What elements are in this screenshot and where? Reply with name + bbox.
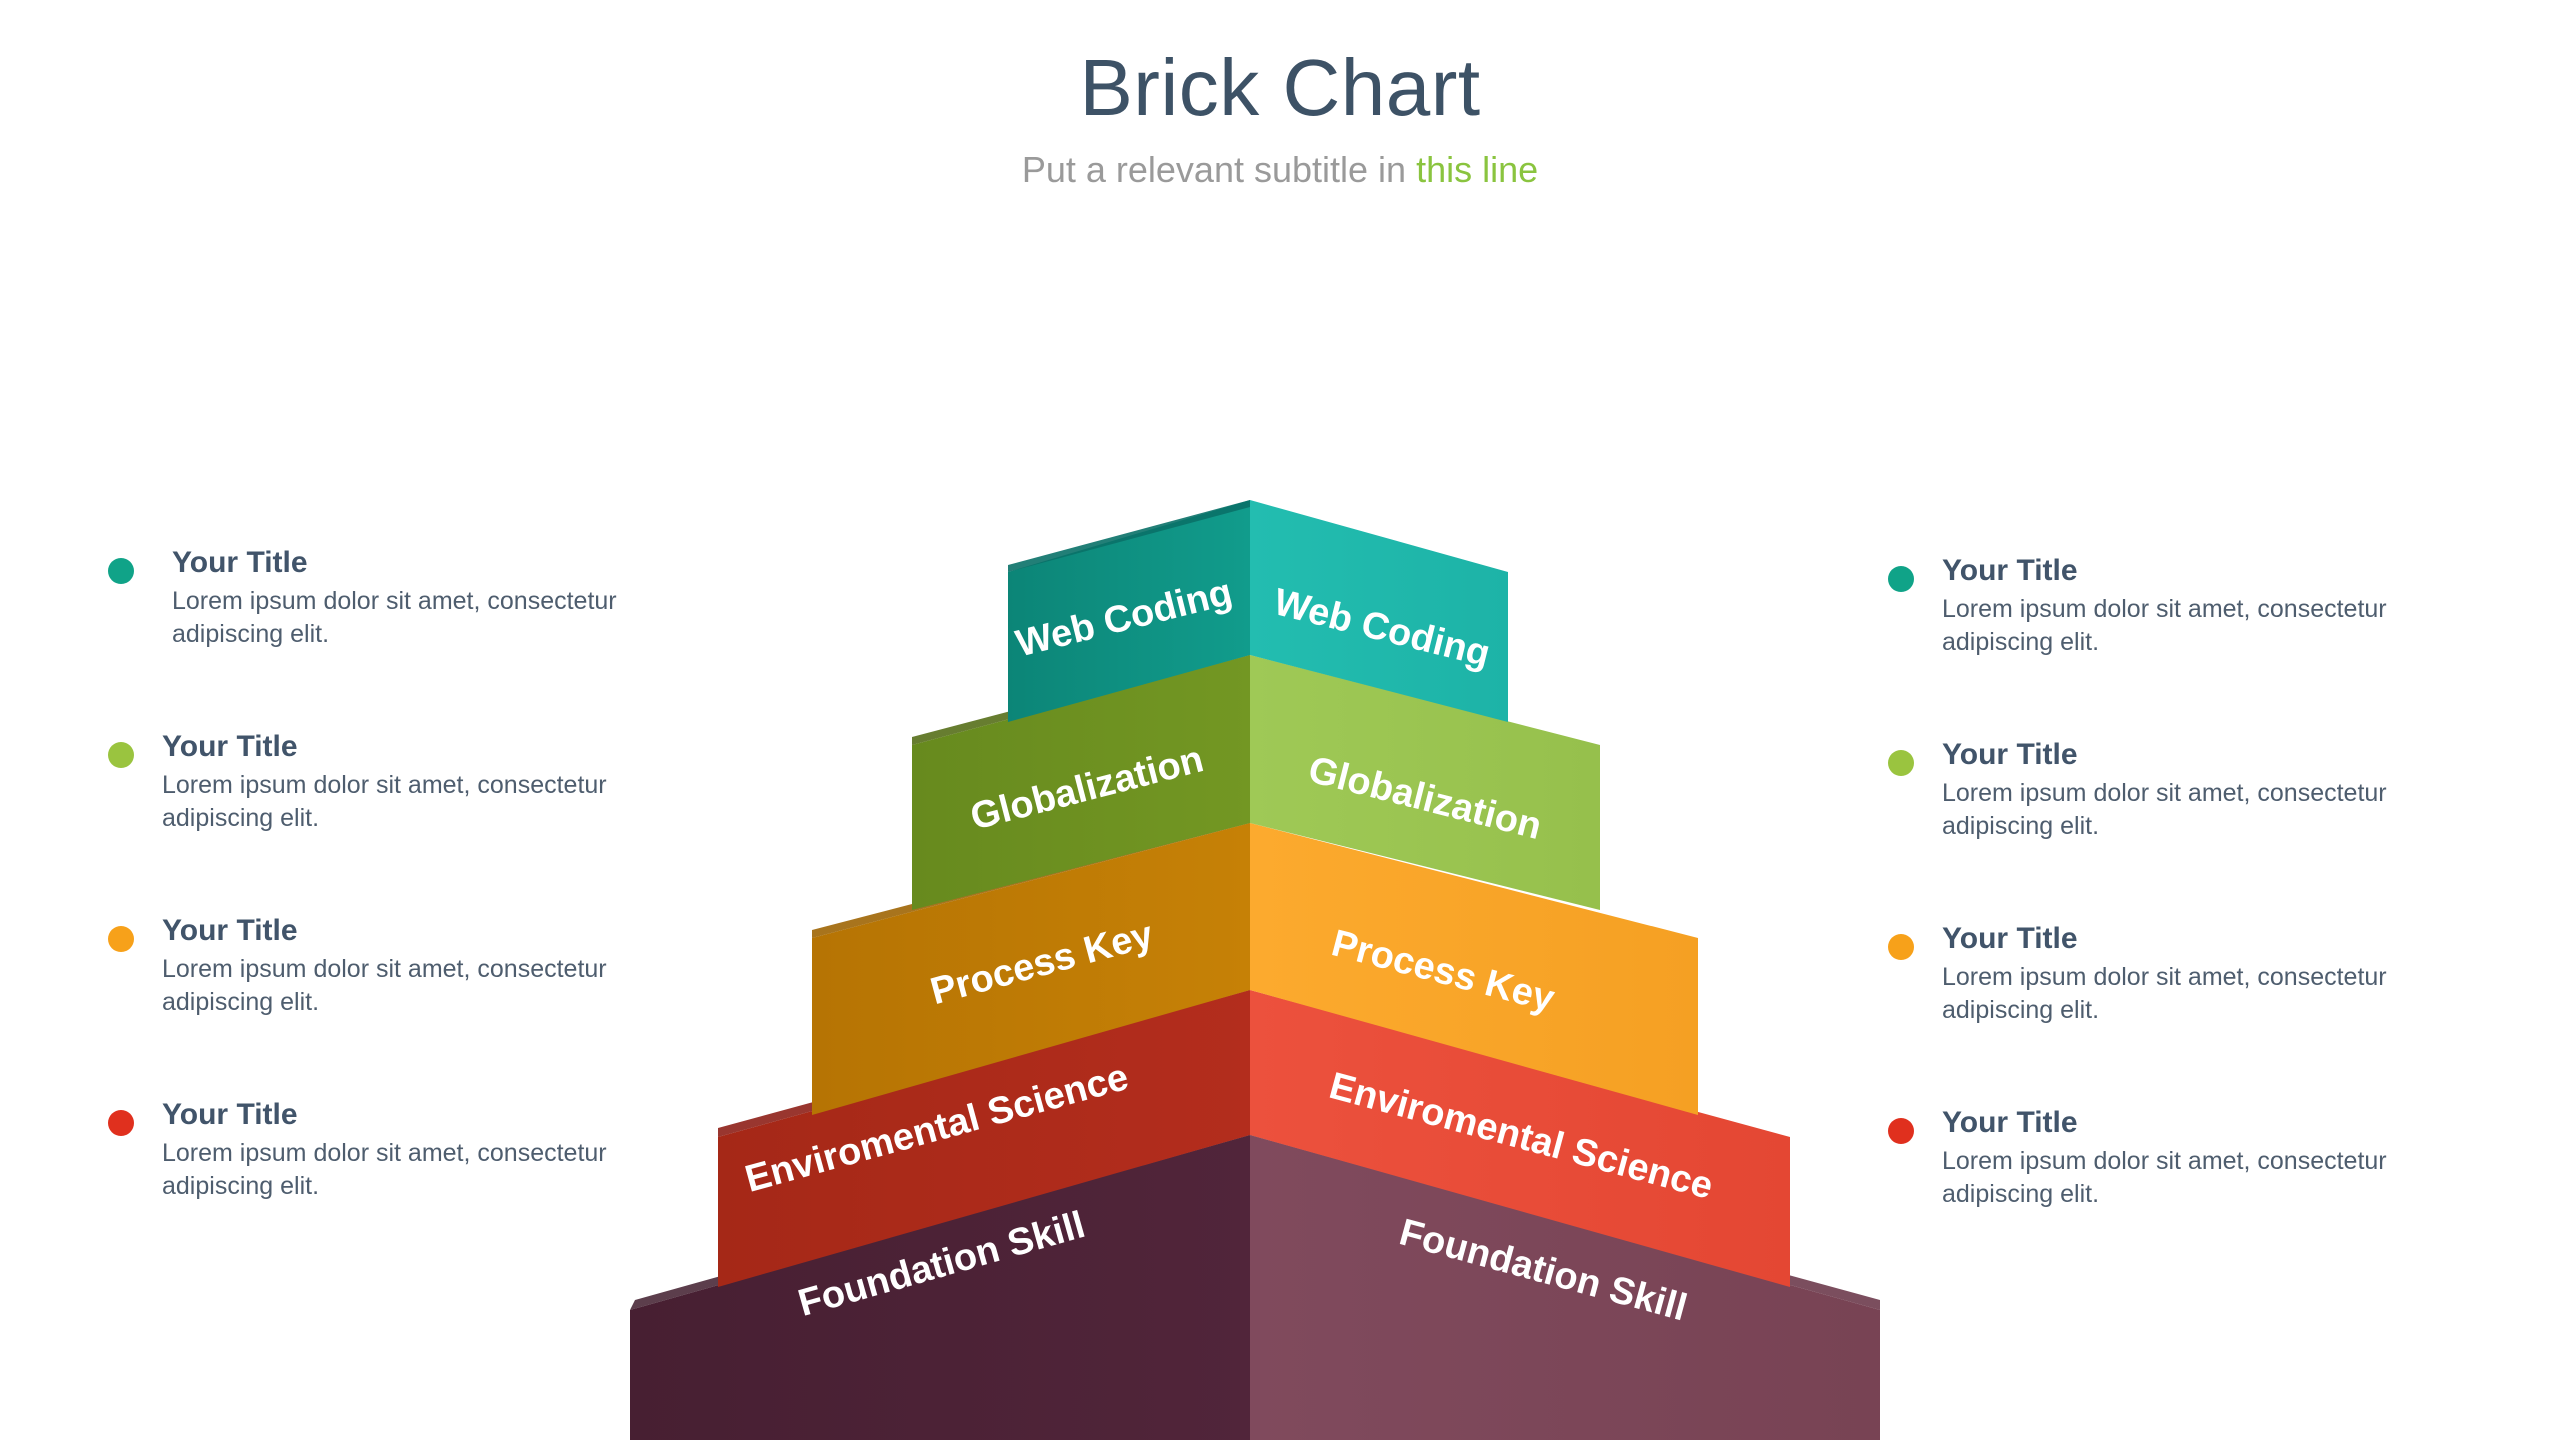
brick-left-face-web-coding[interactable]: [1008, 500, 1250, 722]
legend-right: Your Title Lorem ipsum dolor sit amet, c…: [1880, 554, 2500, 1290]
subtitle-accent-text: this line: [1416, 149, 1538, 190]
brick-left-face-foundation-skill[interactable]: [630, 1135, 1250, 1440]
legend-item-1[interactable]: Your Title Lorem ipsum dolor sit amet, c…: [100, 546, 720, 676]
brick-left-face-globalization[interactable]: [912, 655, 1250, 910]
brick-label-left-foundation-skill: Foundation Skill: [794, 1204, 1090, 1325]
brick-label-left-globalization: Globalization: [966, 738, 1207, 838]
brick-top-left-face-web-coding: [1008, 500, 1250, 572]
legend-dot-icon: [108, 742, 134, 768]
legend-dot-icon: [1888, 1118, 1914, 1144]
brick-label-left-process-key: Process Key: [926, 914, 1157, 1014]
page-title: Brick Chart: [0, 48, 2560, 128]
brick-label-right-enviromental-science: Enviromental Science: [1325, 1065, 1717, 1208]
legend-item-description: Lorem ipsum dolor sit amet, consectetur …: [1942, 777, 2500, 843]
brick-label-right-web-coding: Web Coding: [1270, 581, 1495, 675]
brick-label-left-enviromental-science: Enviromental Science: [741, 1056, 1133, 1201]
header: Brick Chart Put a relevant subtitle in t…: [0, 48, 2560, 190]
legend-item-description: Lorem ipsum dolor sit amet, consectetur …: [162, 953, 720, 1019]
brick-top-right-face-foundation-skill: [1250, 1128, 1880, 1310]
page-subtitle: Put a relevant subtitle in this line: [0, 150, 2560, 190]
brick-tier-enviromental-science[interactable]: Enviromental Science Enviromental Scienc…: [718, 983, 1790, 1287]
legend-item-title: Your Title: [162, 730, 720, 765]
legend-item-1[interactable]: Your Title Lorem ipsum dolor sit amet, c…: [1880, 554, 2500, 684]
brick-left-face-process-key[interactable]: [812, 823, 1250, 1115]
legend-item-4[interactable]: Your Title Lorem ipsum dolor sit amet, c…: [1880, 1106, 2500, 1236]
legend-item-title: Your Title: [1942, 922, 2500, 957]
brick-right-face-foundation-skill[interactable]: [1250, 1135, 1880, 1440]
slide-canvas: Brick Chart Put a relevant subtitle in t…: [0, 0, 2560, 1440]
legend-item-title: Your Title: [1942, 738, 2500, 773]
legend-item-description: Lorem ipsum dolor sit amet, consectetur …: [1942, 1145, 2500, 1211]
brick-left-face-enviromental-science[interactable]: [718, 990, 1250, 1287]
brick-right-face-enviromental-science[interactable]: [1250, 990, 1790, 1287]
brick-tier-process-key[interactable]: Process Key Process Key: [812, 816, 1698, 1115]
legend-item-title: Your Title: [1942, 554, 2500, 589]
legend-dot-icon: [1888, 934, 1914, 960]
legend-dot-icon: [108, 558, 134, 584]
brick-right-face-process-key[interactable]: [1250, 823, 1698, 1115]
brick-top-left-face-globalization: [912, 648, 1250, 745]
legend-item-3[interactable]: Your Title Lorem ipsum dolor sit amet, c…: [100, 914, 720, 1044]
brick-right-face-web-coding[interactable]: [1250, 500, 1508, 722]
brick-tier-foundation-skill[interactable]: Foundation Skill Foundation Skill: [630, 1128, 1880, 1440]
legend-item-4[interactable]: Your Title Lorem ipsum dolor sit amet, c…: [100, 1098, 720, 1228]
legend-dot-icon: [108, 926, 134, 952]
legend-item-title: Your Title: [162, 914, 720, 949]
brick-label-right-process-key: Process Key: [1327, 922, 1558, 1020]
brick-top-left-face-enviromental-science: [718, 983, 1250, 1137]
legend-item-title: Your Title: [162, 546, 720, 581]
legend-dot-icon: [108, 1110, 134, 1136]
legend-item-2[interactable]: Your Title Lorem ipsum dolor sit amet, c…: [100, 730, 720, 860]
brick-label-right-globalization: Globalization: [1304, 749, 1546, 848]
subtitle-plain-text: Put a relevant subtitle in: [1022, 149, 1416, 190]
brick-tier-globalization[interactable]: Globalization Globalization: [912, 648, 1600, 910]
legend-item-3[interactable]: Your Title Lorem ipsum dolor sit amet, c…: [1880, 922, 2500, 1052]
brick-right-face-globalization[interactable]: [1250, 655, 1600, 910]
legend-item-description: Lorem ipsum dolor sit amet, consectetur …: [1942, 961, 2500, 1027]
brick-top-left-face-foundation-skill: [630, 1128, 1250, 1310]
legend-item-2[interactable]: Your Title Lorem ipsum dolor sit amet, c…: [1880, 738, 2500, 868]
legend-item-description: Lorem ipsum dolor sit amet, consectetur …: [162, 1137, 720, 1203]
legend-left: Your Title Lorem ipsum dolor sit amet, c…: [100, 546, 720, 1282]
brick-tier-web-coding[interactable]: Web Coding Web Coding: [1008, 500, 1508, 722]
legend-item-title: Your Title: [162, 1098, 720, 1133]
legend-item-title: Your Title: [1942, 1106, 2500, 1141]
legend-dot-icon: [1888, 750, 1914, 776]
brick-label-right-foundation-skill: Foundation Skill: [1395, 1211, 1691, 1329]
legend-item-description: Lorem ipsum dolor sit amet, consectetur …: [162, 585, 720, 651]
legend-dot-icon: [1888, 566, 1914, 592]
legend-item-description: Lorem ipsum dolor sit amet, consectetur …: [1942, 593, 2500, 659]
legend-item-description: Lorem ipsum dolor sit amet, consectetur …: [162, 769, 720, 835]
brick-label-left-web-coding: Web Coding: [1012, 571, 1237, 665]
brick-top-left-face-process-key: [812, 816, 1250, 938]
